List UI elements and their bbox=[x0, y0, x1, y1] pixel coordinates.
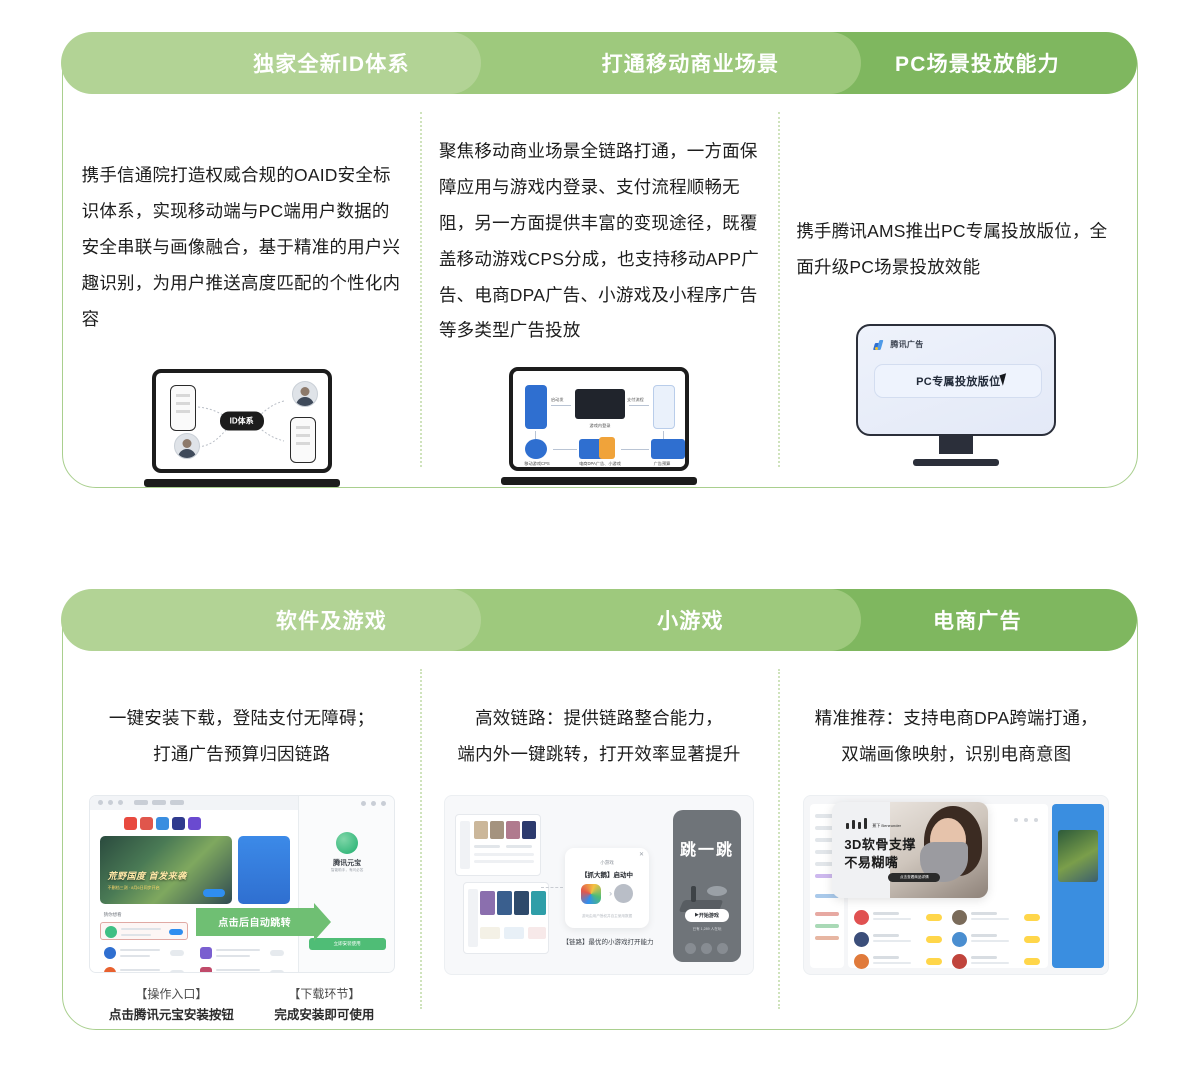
laptop-flow-illustration: 启动发 支付流程 游戏内登录 移动游戏CPS 分成 电商DPA广告、小游戏 及小… bbox=[501, 367, 697, 485]
app-list-row-2[interactable] bbox=[100, 944, 188, 962]
app-row-3-title bbox=[120, 969, 160, 972]
yuanbao-app-icon bbox=[336, 832, 358, 854]
flow-line-6 bbox=[663, 431, 664, 439]
stage-player bbox=[691, 886, 696, 902]
modal-title: 【抓大鹅】启动中 bbox=[565, 869, 649, 879]
monitor-screen: 腾讯广告 PC专属投放版位 bbox=[856, 324, 1056, 436]
player-count-text: 已有 1,289 人在玩 bbox=[673, 927, 741, 932]
feed-avatar-4 bbox=[952, 910, 967, 925]
row2-columns: 一键安装下载，登陆支付无障碍； 打通广告预算归因链路 bbox=[63, 653, 1135, 1029]
toolbar-refresh-icon[interactable] bbox=[118, 800, 123, 805]
row1-header-label-1: 独家全新ID体系 bbox=[253, 48, 410, 78]
game-list-row-2[interactable] bbox=[196, 964, 288, 973]
laptop-screen-2: 启动发 支付流程 游戏内登录 移动游戏CPS 分成 电商DPA广告、小游戏 及小… bbox=[509, 367, 689, 471]
user-avatar bbox=[614, 884, 633, 903]
feed-row-6[interactable] bbox=[952, 952, 1042, 972]
feed-avatar-3 bbox=[854, 954, 869, 969]
flow-line-2 bbox=[629, 405, 649, 406]
detail-minimize-icon[interactable] bbox=[361, 801, 366, 806]
category-chip-5[interactable] bbox=[188, 817, 201, 830]
section-label-left: 猜你想看 bbox=[104, 912, 122, 918]
game-card-1 bbox=[480, 927, 500, 939]
id-graph-core-node: ID体系 bbox=[220, 412, 264, 431]
game-panel-sidebar-1 bbox=[460, 821, 470, 869]
row1-description-3: 携手腾讯AMS推出PC专属投放版位，全面升级PC场景投放效能 bbox=[796, 214, 1116, 286]
flow-node-label-ads: 电商DPA广告、小游戏 及小程序广告 bbox=[567, 461, 633, 471]
feed-row-3[interactable] bbox=[854, 952, 944, 972]
feed-action-button-5[interactable] bbox=[1024, 936, 1040, 943]
ad-brand-name: 蕉下 Beneunder bbox=[872, 824, 901, 828]
app-icon-3 bbox=[104, 967, 116, 973]
step-caption-2: 【下载环节】 完成安装即可使用 bbox=[274, 985, 374, 1025]
step-caption-1: 【操作入口】 点击腾讯元宝安装按钮 bbox=[109, 985, 234, 1025]
row2-header-label-1: 软件及游戏 bbox=[276, 605, 387, 635]
ad-headline-2: 不易糊嘴 bbox=[844, 852, 898, 871]
game-grid-panel-top bbox=[455, 814, 541, 876]
row2-column-2: 高效链路：提供链路整合能力， 端内外一键跳转，打开效率显著提升 bbox=[420, 653, 777, 1029]
app-row-sub-bar bbox=[121, 934, 151, 937]
game-row-1-title bbox=[216, 949, 260, 952]
step-captions: 【操作入口】 点击腾讯元宝安装按钮 【下载环节】 完成安装即可使用 bbox=[89, 985, 395, 1025]
app-store-window: 荒野国度 首发来袭 不删档三测 · 8月6日同步开启 猜你想看 热门游戏 bbox=[89, 795, 395, 973]
app-row-2-sub bbox=[120, 955, 150, 958]
category-chip-1[interactable] bbox=[124, 817, 137, 830]
laptop-base-2 bbox=[501, 477, 697, 485]
detail-close-icon[interactable] bbox=[381, 801, 386, 806]
flow-node-label-cps: 移动游戏CPS 分成 bbox=[513, 461, 561, 471]
toolbar-tab-3[interactable] bbox=[170, 800, 184, 805]
app-row-2-title bbox=[120, 949, 160, 952]
phone-nav-bar bbox=[673, 943, 741, 954]
id-graph-avatar-bottom-left bbox=[174, 433, 200, 459]
game-rank-bar-2 bbox=[506, 845, 532, 848]
feed-action-button-2[interactable] bbox=[926, 936, 942, 943]
flow-node-attribution bbox=[651, 439, 685, 459]
app-list-row-3[interactable] bbox=[100, 964, 188, 973]
category-chip-3[interactable] bbox=[156, 817, 169, 830]
mini-game-caption: 【链路】最优的小游戏打开能力 bbox=[553, 936, 663, 946]
id-graph-phone-bottom-right bbox=[290, 417, 316, 463]
ad-brand-logo-icon: 蕉下 Beneunder bbox=[846, 818, 901, 829]
app-list-row-highlighted[interactable] bbox=[100, 922, 188, 940]
tencent-ads-logo-icon bbox=[874, 339, 885, 350]
game-icon-1 bbox=[200, 947, 212, 959]
feed-avatar-6 bbox=[952, 954, 967, 969]
monitor-frame: 腾讯广告 PC专属投放版位 bbox=[856, 324, 1056, 466]
flow-phone-pay bbox=[653, 385, 675, 429]
game-tile-4 bbox=[522, 821, 536, 839]
flow-tablet-game bbox=[575, 389, 625, 419]
row2-header-label-2: 小游戏 bbox=[657, 605, 724, 635]
mini-game-phone-title: 跳一跳 bbox=[673, 836, 741, 860]
hero-subtitle: 不删档三测 · 8月6日同步开启 bbox=[108, 885, 160, 891]
start-game-button[interactable]: ▶ 开始游戏 bbox=[685, 909, 729, 922]
app-row-title-bar bbox=[121, 928, 161, 931]
flow-line-1 bbox=[551, 405, 571, 406]
infographic-page: PC场景投放能力 打通移动商业场景 独家全新ID体系 携手信通院打造权威合规的O… bbox=[0, 0, 1200, 1081]
row2-description-3: 精准推荐：支持电商DPA跨端打通， 双端画像映射，识别电商意图 bbox=[796, 701, 1116, 773]
row2-header-pills: 电商广告 小游戏 软件及游戏 bbox=[61, 589, 1137, 651]
yuanbao-app-desc: 智能助手，有问必答 bbox=[299, 868, 395, 873]
ecommerce-illustration: 蕉下 Beneunder 3D软骨支撑 不易糊嘴 点击查看商品详情 bbox=[803, 795, 1109, 975]
row1-card: PC场景投放能力 打通移动商业场景 独家全新ID体系 携手信通院打造权威合规的O… bbox=[62, 33, 1138, 488]
yuanbao-app-name: 腾讯元宝 bbox=[299, 858, 395, 868]
stage-target bbox=[707, 886, 727, 896]
game-tile-1 bbox=[474, 821, 488, 839]
toolbar-forward-icon[interactable] bbox=[108, 800, 113, 805]
row1-header-pill-1[interactable]: 独家全新ID体系 bbox=[61, 32, 481, 94]
ad-headline-1: 3D软骨支撑 bbox=[844, 834, 916, 853]
mini-game-illustration: ✕ 小游戏 【抓大鹅】启动中 ›› 游戏由用户授权并自主使用数据 【链路】最优的… bbox=[444, 795, 754, 975]
game-poster-3 bbox=[514, 891, 529, 915]
game-tile-3 bbox=[506, 821, 520, 839]
row1-columns: 携手信通院打造权威合规的OAID安全标识体系，实现移动端与PC端用户数据的安全串… bbox=[63, 96, 1135, 487]
game-icon-2 bbox=[200, 967, 212, 973]
app-install-button-3[interactable] bbox=[170, 970, 184, 973]
monitor-neck bbox=[939, 436, 973, 454]
flow-phone-login bbox=[525, 385, 547, 429]
hero-title: 荒野国度 首发来袭 bbox=[108, 869, 187, 882]
row2-column-3: 精准推荐：支持电商DPA跨端打通， 双端画像映射，识别电商意图 bbox=[778, 653, 1135, 1029]
row1-header-label-3: PC场景投放能力 bbox=[895, 48, 1060, 78]
feed-avatar-2 bbox=[854, 932, 869, 947]
feed-action-button-1[interactable] bbox=[926, 914, 942, 921]
flow-line-5 bbox=[621, 449, 649, 450]
rail-game-card[interactable] bbox=[1058, 830, 1098, 882]
feed-row-2[interactable] bbox=[854, 930, 944, 950]
game-rank-bar-3 bbox=[474, 853, 534, 856]
toolbar-tab-1[interactable] bbox=[134, 800, 148, 805]
flow-node-cps bbox=[525, 439, 547, 459]
ecommerce-window: 蕉下 Beneunder 3D软骨支撑 不易糊嘴 点击查看商品详情 bbox=[803, 795, 1109, 975]
feed-avatar-1 bbox=[854, 910, 869, 925]
row2-description-1: 一键安装下载，登陆支付无障碍； 打通广告预算归因链路 bbox=[82, 701, 402, 773]
detail-maximize-icon[interactable] bbox=[371, 801, 376, 806]
game-poster-4 bbox=[531, 891, 546, 915]
laptop-frame-2: 启动发 支付流程 游戏内登录 移动游戏CPS 分成 电商DPA广告、小游戏 及小… bbox=[501, 367, 697, 485]
row2-column-1: 一键安装下载，登陆支付无障碍； 打通广告预算归因链路 bbox=[63, 653, 420, 1029]
row1-column-3: 携手腾讯AMS推出PC专属投放版位，全面升级PC场景投放效能 腾讯广告 PC专属… bbox=[778, 96, 1135, 487]
laptop-id-graph-illustration: ID体系 bbox=[144, 369, 340, 487]
row2-header-pill-1[interactable]: 软件及游戏 bbox=[61, 589, 481, 651]
laptop-screen: ID体系 bbox=[152, 369, 332, 473]
step-caption-2-title: 【下载环节】 bbox=[274, 985, 374, 1005]
flow-node-ads-doc bbox=[599, 437, 615, 459]
app-store-illustration: 荒野国度 首发来袭 不删档三测 · 8月6日同步开启 猜你想看 热门游戏 bbox=[89, 795, 395, 1025]
feed-window-close-icon[interactable] bbox=[1034, 818, 1038, 822]
jump-game-stage bbox=[681, 868, 733, 912]
feed-window-maximize-icon[interactable] bbox=[1024, 818, 1028, 822]
feed-window-minimize-icon[interactable] bbox=[1014, 818, 1018, 822]
feed-action-button-4[interactable] bbox=[1024, 914, 1040, 921]
game-grid-panel-bottom bbox=[463, 882, 549, 954]
close-icon[interactable]: ✕ bbox=[639, 851, 644, 858]
flow-line-4 bbox=[553, 449, 577, 450]
game-panel-sidebar-2 bbox=[468, 889, 478, 947]
game-row-2-title bbox=[216, 969, 260, 972]
step-caption-2-text: 完成安装即可使用 bbox=[274, 1005, 374, 1026]
monitor-foot bbox=[913, 459, 999, 466]
modal-footer-note: 游戏由用户授权并自主使用数据 bbox=[565, 914, 649, 919]
row1-header-label-2: 打通移动商业场景 bbox=[602, 48, 780, 78]
row1-column-2: 聚焦移动商业场景全链路打通，一方面保障应用与游戏内登录、支付流程顺畅无阻，另一方… bbox=[420, 96, 777, 487]
flow-node-label-attribution: 广告预算 归因链路 bbox=[639, 461, 685, 471]
category-chip-2[interactable] bbox=[140, 817, 153, 830]
mini-game-scene: ✕ 小游戏 【抓大鹅】启动中 ›› 游戏由用户授权并自主使用数据 【链路】最优的… bbox=[444, 795, 754, 975]
laptop-frame: ID体系 bbox=[144, 369, 340, 487]
row1-column-1: 携手信通院打造权威合规的OAID安全标识体系，实现移动端与PC端用户数据的安全串… bbox=[63, 96, 420, 487]
game-poster-1 bbox=[480, 891, 495, 915]
mini-game-phone: 跳一跳 ▶ 开始游戏 已有 1,289 人在玩 bbox=[673, 810, 741, 962]
start-game-button-label: 开始游戏 bbox=[699, 912, 719, 919]
modal-kicker: 小游戏 bbox=[565, 860, 649, 866]
feed-row-4[interactable] bbox=[952, 908, 1042, 928]
game-row-1-sub bbox=[216, 955, 250, 958]
row2-description-2: 高效链路：提供链路整合能力， 端内外一键跳转，打开效率显著提升 bbox=[439, 701, 759, 773]
row1-description-1: 携手信通院打造权威合规的OAID安全标识体系，实现移动端与PC端用户数据的安全串… bbox=[82, 158, 402, 337]
row2-card: 电商广告 小游戏 软件及游戏 一键安装下载，登陆支付无障碍； 打通广告预算归因链… bbox=[62, 590, 1138, 1030]
flow-arrow-label-1: 启动发 bbox=[551, 397, 564, 403]
feed-action-button-6[interactable] bbox=[1024, 958, 1040, 965]
flow-line-3 bbox=[535, 431, 536, 439]
toolbar-back-icon[interactable] bbox=[98, 800, 103, 805]
feed-action-button-3[interactable] bbox=[926, 958, 942, 965]
app-install-button-2[interactable] bbox=[170, 950, 184, 956]
ad-cta-button[interactable]: 点击查看商品详情 bbox=[888, 873, 940, 882]
app-install-button[interactable] bbox=[169, 929, 183, 935]
feed-row-5[interactable] bbox=[952, 930, 1042, 950]
mini-game-launch-modal: ✕ 小游戏 【抓大鹅】启动中 ›› 游戏由用户授权并自主使用数据 bbox=[565, 848, 649, 928]
app-icon-2 bbox=[104, 947, 116, 959]
auto-jump-arrow: 点击后自动跳转 bbox=[196, 908, 314, 936]
step-caption-1-title: 【操作入口】 bbox=[109, 985, 234, 1005]
row1-header-pills: PC场景投放能力 打通移动商业场景 独家全新ID体系 bbox=[61, 32, 1137, 94]
game-list-row-1[interactable] bbox=[196, 944, 288, 962]
app-detail-pane: 腾讯元宝 智能助手，有问必答 立即安装使用 bbox=[298, 796, 395, 973]
game-rank-bar-4 bbox=[474, 860, 534, 863]
toolbar-tab-2[interactable] bbox=[152, 800, 166, 805]
flow-arrow-label-2: 支付流程 bbox=[627, 397, 644, 403]
step-caption-1-text: 点击腾讯元宝安装按钮 bbox=[109, 1005, 234, 1026]
game-tile-2 bbox=[490, 821, 504, 839]
app-store-main-pane: 荒野国度 首发来袭 不删档三测 · 8月6日同步开启 猜你想看 热门游戏 bbox=[90, 796, 298, 973]
game-card-3 bbox=[528, 927, 546, 939]
game-rank-bar-1 bbox=[474, 845, 500, 848]
hero-cta-button[interactable] bbox=[203, 889, 225, 897]
feed-row-1[interactable] bbox=[854, 908, 944, 928]
dpa-ad-creative[interactable]: 蕉下 Beneunder 3D软骨支撑 不易糊嘴 点击查看商品详情 bbox=[832, 802, 988, 898]
flow-connector-dashed bbox=[541, 887, 563, 888]
row1-description-2: 聚焦移动商业场景全链路打通，一方面保障应用与游戏内登录、支付流程顺畅无阻，另一方… bbox=[439, 134, 759, 349]
id-graph-avatar-top-right bbox=[292, 381, 318, 407]
id-graph-phone-top-left bbox=[170, 385, 196, 431]
flow-node-label-login: 游戏内登录 bbox=[569, 423, 631, 429]
sidebar-promo-card[interactable] bbox=[238, 836, 290, 904]
tencent-ads-brand-label: 腾讯广告 bbox=[890, 339, 923, 350]
ecommerce-right-rail bbox=[1052, 804, 1104, 968]
flow-diagram: 启动发 支付流程 游戏内登录 移动游戏CPS 分成 电商DPA广告、小游戏 及小… bbox=[513, 371, 685, 467]
mini-game-logo-icon bbox=[581, 884, 601, 904]
game-poster-2 bbox=[497, 891, 512, 915]
game-install-button-1[interactable] bbox=[270, 950, 284, 956]
laptop-base bbox=[144, 479, 340, 487]
row2-header-label-3: 电商广告 bbox=[933, 605, 1022, 635]
auto-jump-arrow-label: 点击后自动跳转 bbox=[218, 914, 291, 929]
pc-placement-button[interactable]: PC专属投放版位 bbox=[874, 364, 1042, 398]
category-chip-4[interactable] bbox=[172, 817, 185, 830]
app-icon-yuanbao bbox=[105, 926, 117, 938]
chevron-right-icon: ›› bbox=[609, 889, 610, 898]
game-card-2 bbox=[504, 927, 524, 939]
game-install-button-2[interactable] bbox=[270, 970, 284, 973]
hero-banner[interactable]: 荒野国度 首发来袭 不删档三测 · 8月6日同步开启 bbox=[100, 836, 232, 904]
tencent-ads-brand: 腾讯广告 bbox=[874, 339, 923, 350]
pc-placement-button-label: PC专属投放版位 bbox=[916, 373, 1000, 389]
feed-avatar-5 bbox=[952, 932, 967, 947]
pc-monitor-illustration: 腾讯广告 PC专属投放版位 bbox=[856, 324, 1056, 466]
